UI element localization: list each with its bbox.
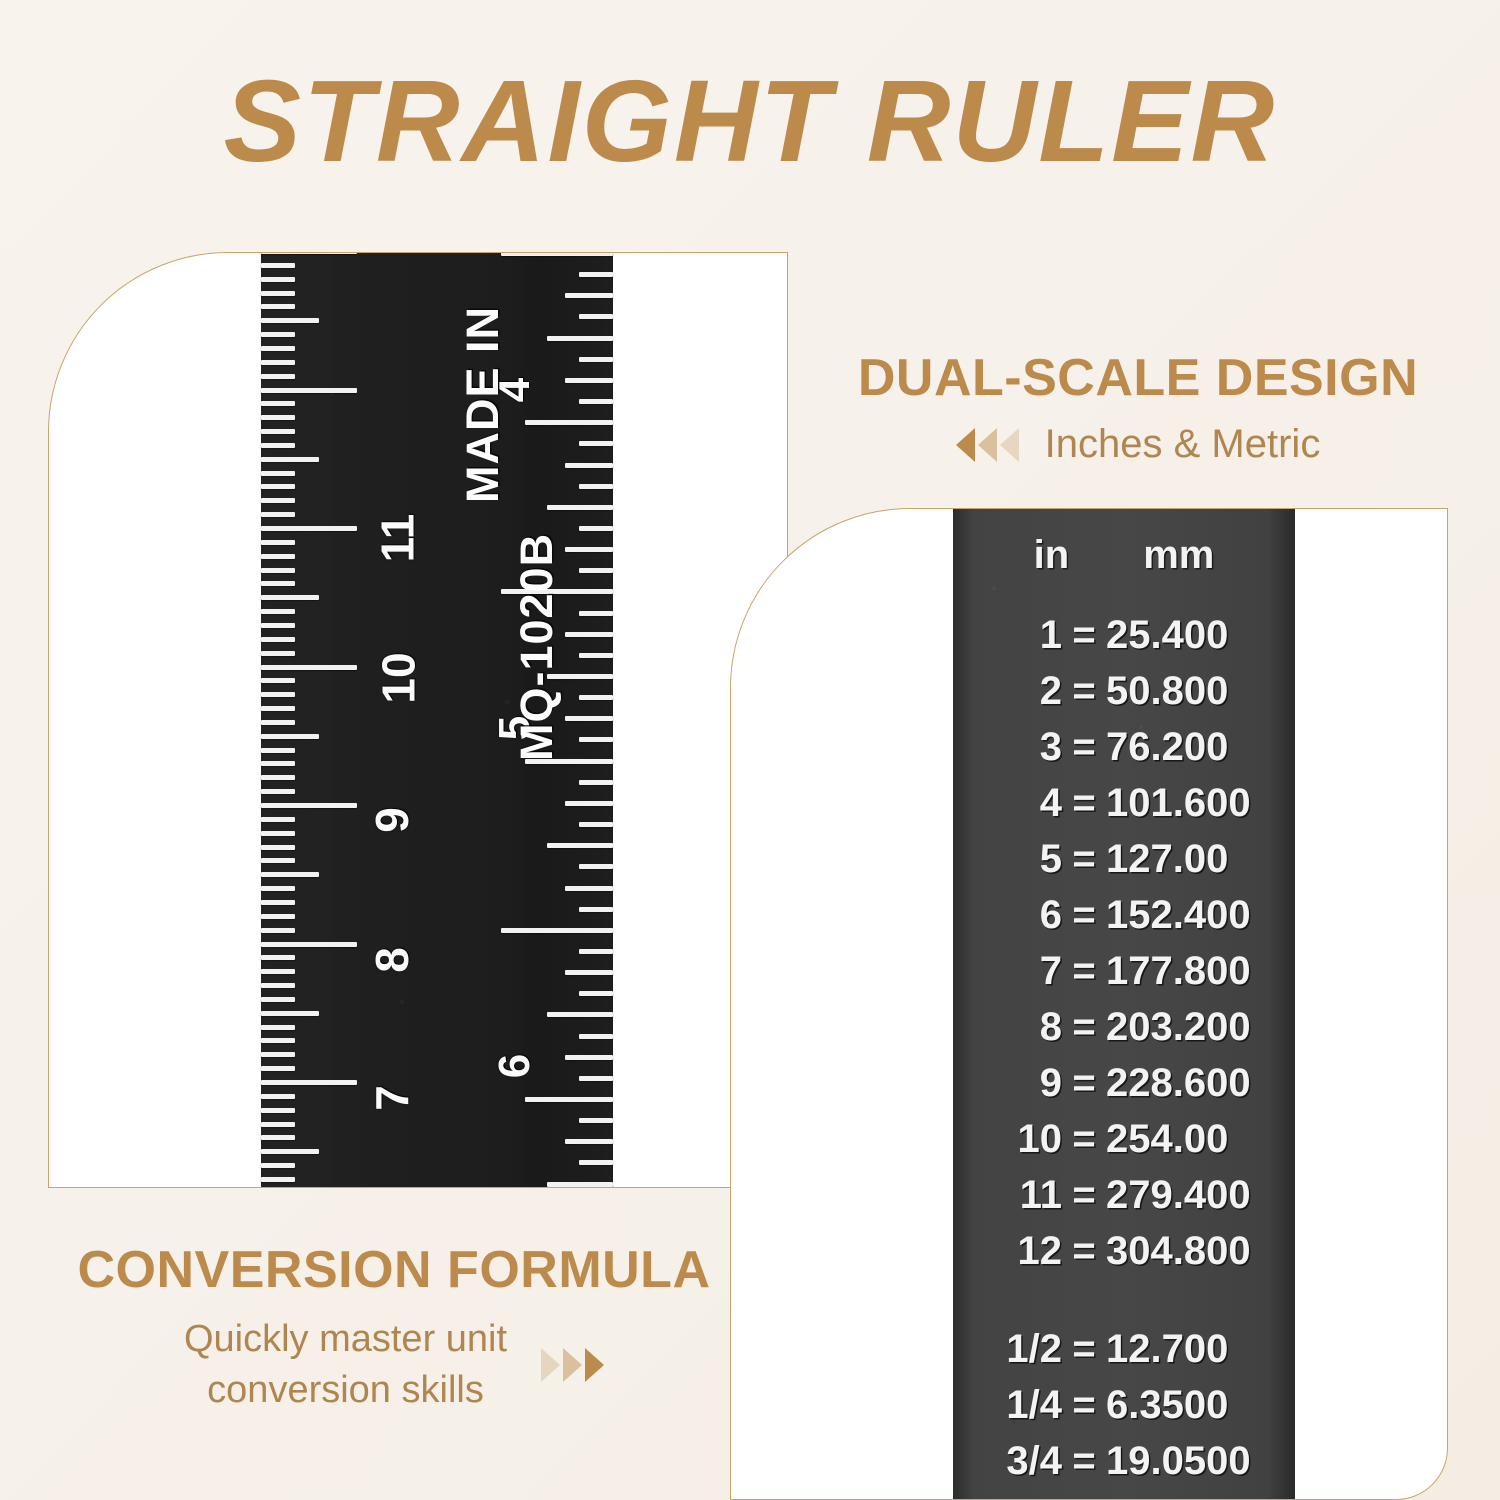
conversion-row-equals: =: [1062, 839, 1106, 879]
conversion-formula-heading: CONVERSION FORMULA: [44, 1240, 744, 1300]
ruler-tick: [261, 429, 295, 434]
dual-scale-heading-block: DUAL-SCALE DESIGN Inches & Metric: [828, 348, 1448, 467]
conversion-formula-subtitle: Quickly master unit conversion skills: [184, 1314, 507, 1417]
ruler-tick: [261, 761, 295, 766]
conversion-row-mm: 279.400: [1106, 1175, 1282, 1215]
ruler-tick: [261, 443, 295, 448]
ruler-tick: [261, 540, 295, 545]
ruler-tick: [261, 983, 295, 988]
ruler-tick: [565, 1139, 613, 1144]
ruler-tick: [261, 512, 295, 517]
ruler-tick: [565, 716, 613, 721]
ruler-tick: [261, 415, 295, 420]
conversion-row-equals: =: [1062, 1385, 1106, 1425]
ruler-tick: [261, 706, 295, 711]
ruler-tick: [579, 611, 613, 616]
chevron-right-icon: [541, 1348, 560, 1382]
ruler-tick: [261, 789, 295, 794]
conversion-row: 11=279.400: [953, 1175, 1295, 1215]
ruler-tick: [261, 665, 357, 670]
ruler-tick: [579, 399, 613, 404]
ruler-tick: [261, 955, 295, 960]
ruler-tick: [525, 1097, 613, 1102]
chevron-left-icon: [1000, 428, 1019, 462]
conversion-row-inches: 3/4: [966, 1441, 1062, 1481]
ruler-tick: [261, 291, 295, 296]
conversion-table-rows: 1=25.4002=50.8003=76.2004=101.6005=127.0…: [953, 615, 1295, 1500]
page-title: STRAIGHT RULER: [0, 58, 1500, 186]
conversion-row-mm: 127.00: [1106, 839, 1282, 879]
ruler-tick: [261, 651, 295, 656]
conversion-row-equals: =: [1062, 895, 1106, 935]
ruler-tick: [261, 484, 295, 489]
ruler-tick: [261, 277, 295, 282]
ruler-tick: [261, 1177, 295, 1182]
ruler-tick: [261, 1011, 319, 1016]
ruler-tick: [261, 1149, 319, 1154]
ruler-tick: [579, 907, 613, 912]
ruler-tick: [261, 304, 295, 309]
ruler-tick: [579, 1118, 613, 1123]
conversion-row: 6=152.400: [953, 895, 1295, 935]
ruler-tick: [261, 526, 357, 531]
dual-scale-heading: DUAL-SCALE DESIGN: [828, 348, 1448, 408]
conversion-row-inches: 10: [966, 1119, 1062, 1159]
conversion-row-mm: 152.400: [1106, 895, 1282, 935]
conversion-row-inches: 6: [966, 895, 1062, 935]
ruler-tick: [261, 775, 295, 780]
ruler-tick: [579, 357, 613, 362]
ruler-tick: [261, 1025, 295, 1030]
ruler-tick: [261, 1163, 295, 1168]
conversion-row-equals: =: [1062, 1007, 1106, 1047]
ruler-tick: [565, 293, 613, 298]
ruler-tick: [261, 831, 295, 836]
conversion-formula-subtitle-line1: Quickly master unit: [184, 1318, 507, 1360]
chevron-right-icon: [585, 1348, 604, 1382]
ruler-tick: [261, 942, 357, 947]
conversion-row-fraction: 1/2=12.700: [953, 1329, 1295, 1369]
conversion-row-inches: 9: [966, 1063, 1062, 1103]
ruler-tick: [579, 737, 613, 742]
ruler-tick: [261, 678, 295, 683]
ruler-tick: [261, 1108, 295, 1113]
ruler-tick: [579, 526, 613, 531]
conversion-row: 7=177.800: [953, 951, 1295, 991]
conversion-row-mm: 12.700: [1106, 1329, 1282, 1369]
conversion-row-equals: =: [1062, 727, 1106, 767]
conversion-row-equals: =: [1062, 1119, 1106, 1159]
ruler-tick: [261, 845, 295, 850]
conversion-strip: in mm 1=25.4002=50.8003=76.2004=101.6005…: [953, 509, 1295, 1500]
conversion-row-inches: 12: [966, 1231, 1062, 1271]
conversion-row-mm: 304.800: [1106, 1231, 1282, 1271]
ruler-metric-number-8: 8: [365, 947, 419, 973]
conversion-row-inches: 1: [966, 615, 1062, 655]
ruler-tick: [565, 1055, 613, 1060]
conversion-row-equals: =: [1062, 615, 1106, 655]
ruler-model-label: MQ-1020B: [511, 533, 563, 761]
ruler-tick: [261, 692, 295, 697]
conversion-table-divider: [953, 1287, 1295, 1329]
ruler-tick: [261, 914, 295, 919]
ruler-tick: [261, 637, 295, 642]
ruler-tick: [565, 547, 613, 552]
conversion-row-inches: 8: [966, 1007, 1062, 1047]
ruler-tick: [261, 346, 295, 351]
conversion-row-inches: 11: [966, 1175, 1062, 1215]
ruler-tick: [565, 632, 613, 637]
ruler-tick: [579, 949, 613, 954]
ruler-tick: [261, 720, 295, 725]
conversion-row-mm: 177.800: [1106, 951, 1282, 991]
ruler-tick: [579, 1034, 613, 1039]
ruler-tick: [261, 360, 295, 365]
ruler-tick: [261, 252, 357, 254]
conversion-row-equals: =: [1062, 1063, 1106, 1103]
ruler-tick: [547, 1182, 613, 1187]
ruler-tick: [579, 441, 613, 446]
ruler-tick: [565, 463, 613, 468]
conversion-row: 4=101.600: [953, 783, 1295, 823]
ruler-tick: [579, 822, 613, 827]
ruler-tick: [579, 314, 613, 319]
ruler-tick: [261, 748, 295, 753]
ruler-tick: [261, 817, 295, 822]
ruler-tick: [579, 864, 613, 869]
ruler-tick: [261, 388, 357, 393]
ruler-tick: [261, 1080, 357, 1085]
conversion-row: 8=203.200: [953, 1007, 1295, 1047]
ruler-tick: [525, 420, 613, 425]
dual-scale-subtitle: Inches & Metric: [1045, 422, 1321, 467]
ruler-tick: [261, 803, 357, 808]
ruler-tick: [261, 886, 295, 891]
conversion-row-inches: 1/2: [966, 1329, 1062, 1369]
conversion-row-mm: 254.00: [1106, 1119, 1282, 1159]
conversion-row-equals: =: [1062, 783, 1106, 823]
ruler-tick: [261, 1122, 295, 1127]
ruler-tick: [261, 332, 295, 337]
ruler-tick: [565, 970, 613, 975]
conversion-row-inches: 1/4: [966, 1385, 1062, 1425]
conversion-row-inches: 4: [966, 783, 1062, 823]
ruler-tick: [501, 928, 613, 933]
ruler-tick: [579, 1076, 613, 1081]
conversion-row-inches: 3: [966, 727, 1062, 767]
conversion-formula-block: CONVERSION FORMULA Quickly master unit c…: [44, 1240, 744, 1417]
ruler-tick: [579, 568, 613, 573]
ruler-tick: [579, 653, 613, 658]
ruler-tick: [261, 1094, 295, 1099]
ruler-tick: [261, 568, 295, 573]
ruler-tick: [261, 471, 295, 476]
conversion-row-inches: 7: [966, 951, 1062, 991]
conversion-row-mm: 25.400: [1106, 615, 1282, 655]
conversion-row: 5=127.00: [953, 839, 1295, 879]
ruler-metric-ticks: [261, 253, 411, 1188]
conversion-row-mm: 50.800: [1106, 671, 1282, 711]
ruler-tick: [261, 734, 319, 739]
ruler-tick: [261, 623, 295, 628]
conversion-row-equals: =: [1062, 671, 1106, 711]
ruler-tick: [261, 498, 295, 503]
ruler-tick: [261, 928, 295, 933]
ruler-tick: [261, 900, 295, 905]
ruler-tick: [261, 1135, 295, 1140]
ruler-tick: [579, 484, 613, 489]
ruler-tick: [565, 378, 613, 383]
ruler-tick: [261, 457, 319, 462]
chevron-left-group: [956, 428, 1019, 462]
ruler-tick: [579, 991, 613, 996]
conversion-row: 12=304.800: [953, 1231, 1295, 1271]
ruler-tick: [261, 581, 295, 586]
ruler-tick: [547, 1012, 613, 1017]
conversion-formula-subtitle-line2: conversion skills: [207, 1369, 484, 1411]
ruler-tick: [261, 263, 295, 268]
ruler-tick: [579, 695, 613, 700]
ruler-metric-number-7: 7: [365, 1085, 419, 1111]
conversion-row: 3=76.200: [953, 727, 1295, 767]
ruler-body: 11 10 9 8 7 6 5 4 5 6 MADE IN MQ-1020B: [261, 253, 613, 1188]
ruler-tick: [261, 969, 295, 974]
ruler-tick: [261, 1052, 295, 1057]
conversion-row: 9=228.600: [953, 1063, 1295, 1103]
chevron-right-icon: [563, 1348, 582, 1382]
chevron-left-icon: [956, 428, 975, 462]
ruler-metric-number-11: 11: [370, 514, 424, 563]
conversion-row-mm: 101.600: [1106, 783, 1282, 823]
ruler-tick: [579, 1160, 613, 1165]
ruler-tick: [261, 554, 295, 559]
ruler-tick: [261, 595, 319, 600]
ruler-tick: [261, 997, 295, 1002]
ruler-metric-number-10: 10: [372, 652, 426, 703]
ruler-tick: [261, 858, 295, 863]
chevron-left-icon: [978, 428, 997, 462]
conversion-table-header: in mm: [953, 533, 1295, 578]
ruler-tick: [261, 318, 319, 323]
ruler-inch-number-6: 6: [490, 1054, 540, 1078]
conversion-row: 2=50.800: [953, 671, 1295, 711]
ruler-tick: [579, 780, 613, 785]
conversion-table-card: in mm 1=25.4002=50.8003=76.2004=101.6005…: [730, 508, 1448, 1500]
ruler-metric-number-9: 9: [365, 807, 419, 833]
ruler-tick: [261, 872, 319, 877]
ruler-tick: [261, 374, 295, 379]
conversion-row-fraction: 1/4=6.3500: [953, 1385, 1295, 1425]
ruler-tick: [565, 886, 613, 891]
conversion-row: 10=254.00: [953, 1119, 1295, 1159]
conversion-row-fraction: 3/4=19.0500: [953, 1441, 1295, 1481]
conversion-row-mm: 6.3500: [1106, 1385, 1282, 1425]
ruler-tick: [547, 843, 613, 848]
ruler-tick: [501, 252, 613, 256]
ruler-photo-card: 11 10 9 8 7 6 5 4 5 6 MADE IN MQ-1020B: [48, 252, 788, 1188]
conversion-row-equals: =: [1062, 1231, 1106, 1271]
ruler-tick: [261, 401, 295, 406]
ruler-made-in-label: MADE IN: [457, 306, 509, 503]
ruler-tick: [547, 336, 613, 341]
conversion-row-equals: =: [1062, 1441, 1106, 1481]
ruler-tick: [261, 1038, 295, 1043]
ruler-tick: [579, 272, 613, 277]
conversion-row-equals: =: [1062, 951, 1106, 991]
conversion-row-inches: 5: [966, 839, 1062, 879]
chevron-right-group: [541, 1348, 604, 1382]
ruler-tick: [261, 609, 295, 614]
column-header-mm: mm: [1143, 533, 1214, 578]
column-header-in: in: [1034, 533, 1070, 578]
conversion-row: 1=25.400: [953, 615, 1295, 655]
conversion-row-mm: 19.0500: [1106, 1441, 1282, 1481]
conversion-row-equals: =: [1062, 1175, 1106, 1215]
ruler-tick: [547, 505, 613, 510]
conversion-row-equals: =: [1062, 1329, 1106, 1369]
conversion-row-mm: 228.600: [1106, 1063, 1282, 1103]
conversion-row-mm: 76.200: [1106, 727, 1282, 767]
ruler-tick: [261, 1066, 295, 1071]
conversion-row-mm: 203.200: [1106, 1007, 1282, 1047]
ruler-tick: [565, 801, 613, 806]
conversion-row-inches: 2: [966, 671, 1062, 711]
